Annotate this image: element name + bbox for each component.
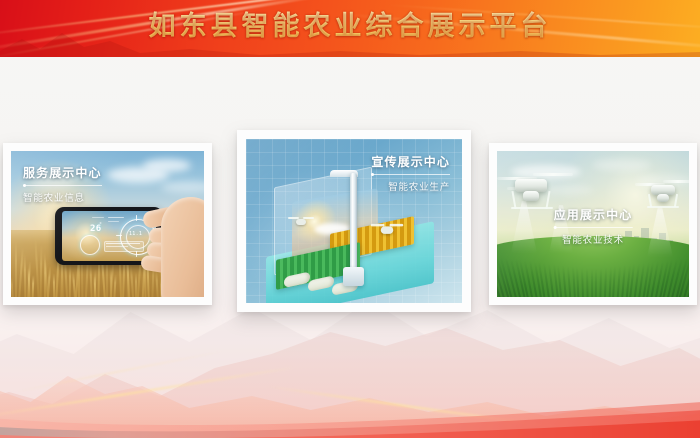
crop-row — [567, 266, 572, 297]
label-divider — [371, 174, 450, 175]
hud-line — [92, 217, 104, 218]
label-divider — [23, 185, 102, 186]
drone-tank — [523, 191, 539, 201]
light-ray-3 — [16, 351, 222, 392]
label-divider — [554, 227, 633, 228]
irrigation-pole — [350, 173, 357, 273]
drone-tank — [657, 194, 669, 202]
crop-row — [621, 265, 626, 297]
hud-temperature-unit: ° — [99, 222, 102, 228]
wheat-stalk — [69, 264, 72, 297]
bottom-red-ribbons — [0, 376, 700, 438]
drone-blade — [663, 180, 689, 183]
card-service-center[interactable]: {} 26 ° 11.1 — [3, 143, 212, 305]
light-ray-2 — [267, 386, 558, 429]
wheat-stalk — [15, 240, 17, 297]
palm — [161, 197, 204, 297]
header-banner: 如东县智能农业综合展示平台 如东县智能农业综合展示平台 — [0, 0, 700, 57]
crop-row — [586, 268, 589, 297]
wheat-stalk — [93, 276, 96, 297]
crop-row — [595, 269, 597, 297]
card-service-artwork: {} 26 ° 11.1 — [11, 151, 204, 297]
cloud-shape — [593, 159, 651, 171]
background-mountains-near — [0, 338, 700, 438]
drone-large-right — [637, 177, 689, 213]
crop-row — [591, 269, 593, 297]
wheat-stalk — [40, 245, 43, 297]
hud-line — [108, 217, 124, 218]
hud-panel-line — [106, 246, 128, 247]
hud-ring-small — [80, 235, 100, 255]
drone-body — [296, 219, 306, 225]
card-promotion-title: 宣传展示中心 — [371, 153, 450, 170]
drone-small-right — [371, 221, 404, 237]
wheat-stalk — [89, 262, 92, 297]
drone-skid — [511, 207, 553, 209]
crop-row — [581, 268, 584, 297]
irrigation-base — [343, 267, 364, 286]
card-application-label: 应用展示中心 智能农业技术 — [554, 206, 633, 246]
crop-row — [608, 267, 612, 297]
crop-row — [604, 268, 607, 297]
hand-holding-phone — [139, 195, 204, 297]
card-promotion-subtitle: 智能农业生产 — [371, 179, 450, 193]
wheat-stalk — [18, 247, 24, 297]
cloud-shape — [143, 159, 191, 172]
drone-skid — [647, 206, 679, 208]
wheat-stalk — [47, 266, 51, 297]
wheat-stalk — [23, 254, 26, 297]
card-service-label: 服务展示中心 智能农业信息 — [23, 164, 102, 204]
crop-row — [572, 266, 576, 297]
card-promotion-center[interactable]: 宣传展示中心 智能农业生产 — [237, 130, 471, 312]
card-promotion-artwork: 宣传展示中心 智能农业生产 — [246, 139, 462, 303]
wheat-stalk — [31, 275, 34, 297]
wheat-stalk — [130, 265, 134, 297]
wheat-stalk — [27, 268, 30, 297]
hud-line — [108, 221, 119, 222]
page-title: 如东县智能农业综合展示平台 — [0, 7, 700, 47]
card-application-subtitle: 智能农业技术 — [554, 232, 633, 246]
crop-row — [599, 268, 602, 297]
app-root: 如东县智能农业综合展示平台 如东县智能农业综合展示平台 {} — [0, 0, 700, 438]
card-application-title: 应用展示中心 — [554, 206, 633, 223]
card-application-center[interactable]: 应用展示中心 智能农业技术 — [489, 143, 697, 305]
wheat-stalk — [52, 273, 54, 297]
wheat-stalk — [11, 277, 14, 297]
card-promotion-label: 宣传展示中心 智能农业生产 — [371, 153, 450, 193]
hud-panel-line — [106, 243, 140, 244]
drone-blade — [533, 173, 573, 176]
drone-small-left — [288, 215, 314, 228]
crop-row — [616, 266, 621, 297]
crop-row — [612, 266, 616, 297]
crop-row — [576, 267, 580, 297]
light-ray-1 — [0, 367, 292, 419]
card-service-title: 服务展示中心 — [23, 164, 102, 181]
card-service-subtitle: 智能农业信息 — [23, 190, 102, 204]
card-application-artwork: 应用展示中心 智能农业技术 — [497, 151, 689, 297]
drone-body — [381, 226, 394, 234]
wheat-stalk — [114, 274, 117, 297]
wheat-stalk — [44, 259, 46, 297]
